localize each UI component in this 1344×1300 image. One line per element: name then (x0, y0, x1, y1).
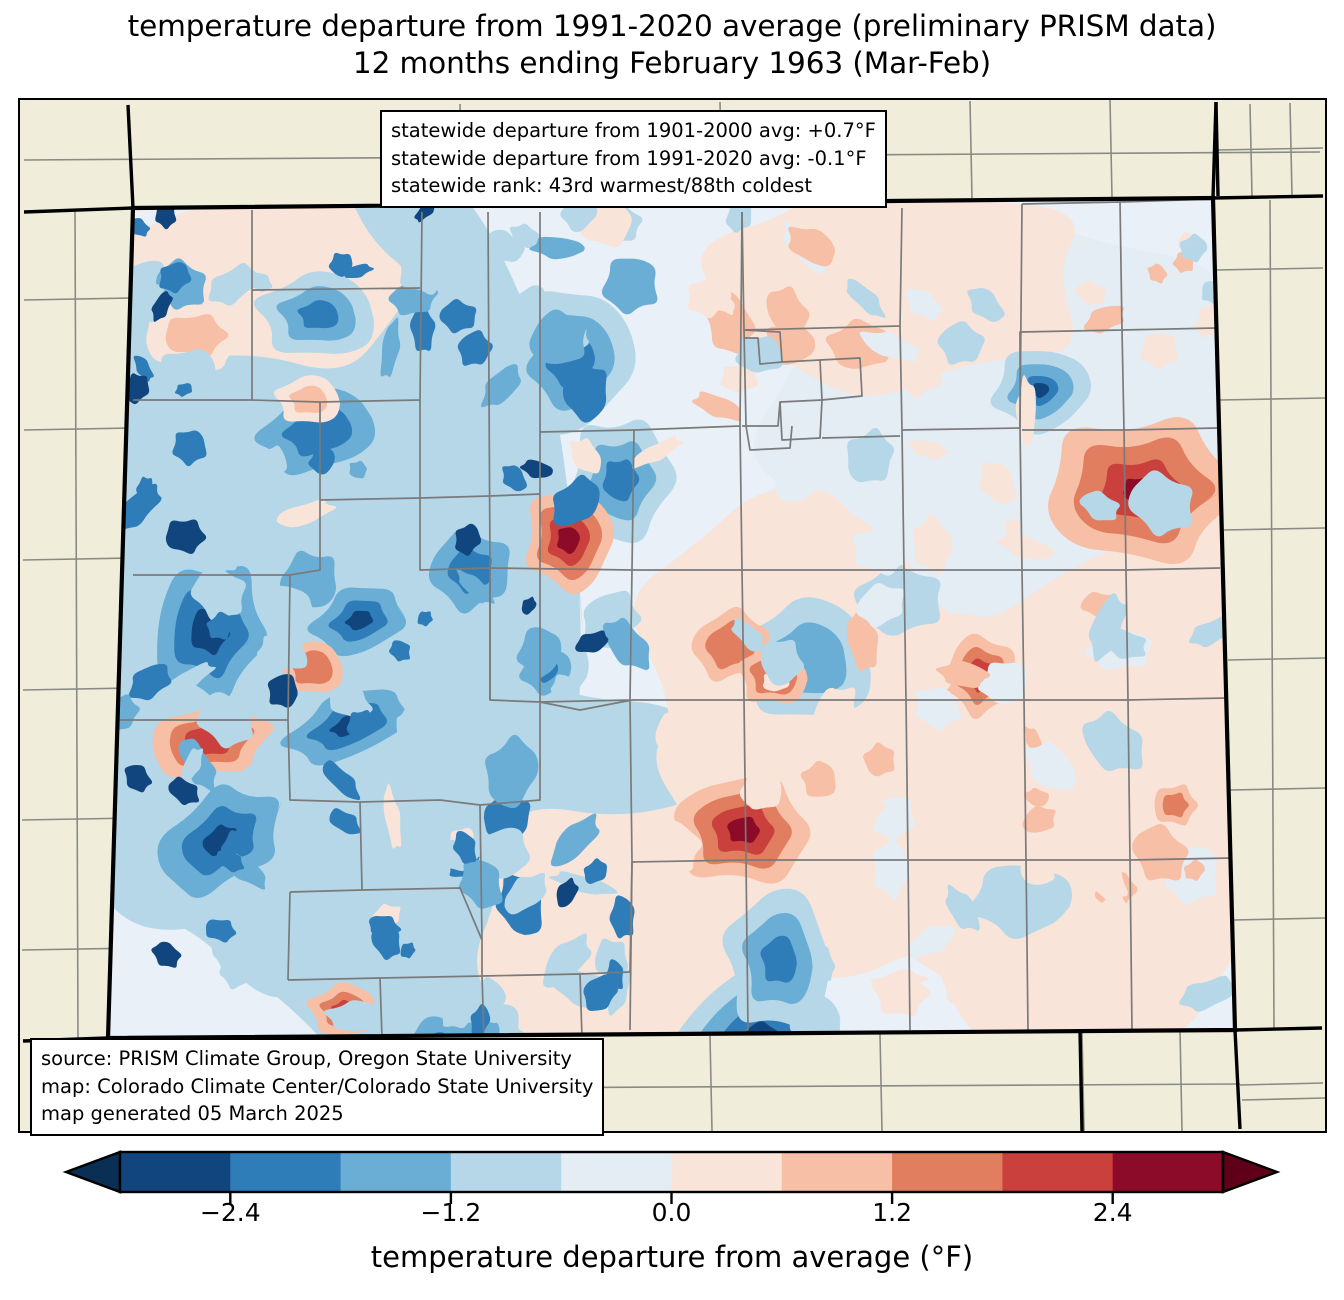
colorbar-band-7 (892, 1152, 1003, 1192)
colorbar-band-9 (1113, 1152, 1224, 1192)
stat-departure-1901-2000: statewide departure from 1901-2000 avg: … (391, 117, 876, 145)
source-line: source: PRISM Climate Group, Oregon Stat… (41, 1045, 593, 1073)
stat-statewide-rank: statewide rank: 43rd warmest/88th coldes… (391, 172, 876, 200)
stat-departure-1991-2020: statewide departure from 1991-2020 avg: … (391, 145, 876, 173)
map-panel (18, 98, 1327, 1133)
colorbar-region: −2.4−1.20.01.22.4 temperature departure … (0, 1140, 1344, 1300)
colorbar-tick-label-0: −2.4 (200, 1198, 261, 1227)
colorbar-over-arrow (1223, 1152, 1277, 1192)
colorbar-band-6 (782, 1152, 893, 1192)
source-credit-box: source: PRISM Climate Group, Oregon Stat… (30, 1038, 604, 1136)
map-credit-line: map: Colorado Climate Center/Colorado St… (41, 1073, 593, 1101)
anomaly-contour-field (20, 114, 1325, 1127)
colorbar-band-4 (561, 1152, 672, 1192)
title-line-2: 12 months ending February 1963 (Mar-Feb) (0, 45, 1344, 82)
title-line-1: temperature departure from 1991-2020 ave… (0, 8, 1344, 45)
colorbar-band-8 (1002, 1152, 1113, 1192)
colorbar-band-0 (120, 1152, 231, 1192)
colorbar-tick-label-2: 0.0 (652, 1198, 692, 1227)
map-generated-line: map generated 05 March 2025 (41, 1100, 593, 1128)
statewide-stats-box: statewide departure from 1901-2000 avg: … (380, 110, 887, 208)
colorbar-axis-label: temperature departure from average (°F) (0, 1240, 1344, 1274)
colorado-temperature-anomaly-map (20, 100, 1325, 1131)
page-title: temperature departure from 1991-2020 ave… (0, 8, 1344, 82)
colorbar-band-5 (672, 1152, 783, 1192)
colorbar-band-1 (230, 1152, 341, 1192)
colorbar-band-3 (451, 1152, 562, 1192)
colorbar-tick-label-1: −1.2 (421, 1198, 482, 1227)
colorbar-under-arrow (66, 1152, 120, 1192)
colorbar-tick-label-3: 1.2 (872, 1198, 912, 1227)
colorbar-band-2 (341, 1152, 452, 1192)
colorbar-tick-label-4: 2.4 (1093, 1198, 1133, 1227)
